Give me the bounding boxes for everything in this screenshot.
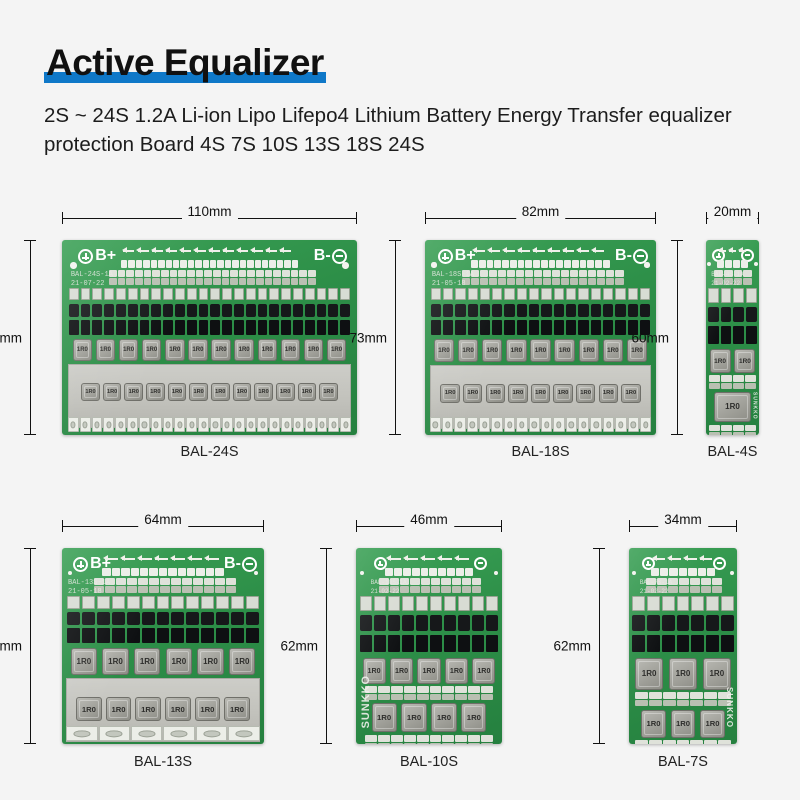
pad: [543, 270, 551, 277]
mosfet: [416, 635, 428, 653]
smd-capacitor: [127, 596, 140, 609]
inductor-1r0: 1R0: [229, 648, 256, 675]
dimension-width-bal-10s: 46mm: [356, 520, 502, 532]
black-inductor: [269, 304, 279, 317]
silk-arrow-row: [121, 247, 292, 254]
inductor-1r0-lower: 1R0: [233, 383, 252, 401]
pad: [215, 578, 225, 585]
dimension-line: [30, 548, 31, 744]
component-channel: [222, 288, 232, 337]
connector-pad: [385, 568, 393, 576]
pad-row: [635, 692, 730, 698]
arrow-icon: [151, 247, 163, 254]
mosfet: [517, 320, 527, 335]
smd-capacitor: [529, 288, 539, 301]
black-inductor: [554, 304, 564, 317]
mosfet: [82, 628, 95, 643]
pad: [204, 578, 214, 585]
inductor-1r0-lower: 1R0: [276, 383, 295, 401]
pad: [733, 383, 744, 389]
smd-capacitor: [67, 596, 80, 609]
dimension-width-bal-18s: 82mm: [425, 212, 656, 224]
component-channel: [566, 288, 576, 337]
screw-terminal: [553, 417, 564, 432]
mosfet: [360, 635, 372, 653]
pad: [182, 586, 192, 593]
pad: [404, 686, 416, 692]
component-channel: [246, 596, 259, 645]
mosfet: [104, 320, 114, 335]
black-inductor: [112, 612, 125, 625]
screw-terminal: [454, 417, 465, 432]
mosfet: [67, 628, 80, 643]
black-inductor: [210, 304, 220, 317]
silkscreen-date-text: 21-02-22: [711, 281, 740, 288]
connector-pad: [196, 568, 204, 576]
pad: [144, 278, 152, 285]
arrow-icon: [179, 247, 191, 254]
pad: [391, 694, 403, 700]
component-channel: [157, 596, 170, 645]
mounting-hole: [730, 571, 734, 575]
pad: [135, 270, 143, 277]
pad: [472, 578, 481, 585]
smd-pad-matrix: [94, 578, 235, 593]
pad: [721, 375, 732, 381]
dimension-line: [677, 240, 678, 435]
arrow-icon: [667, 555, 681, 562]
component-channel: [163, 288, 173, 337]
black-inductor: [127, 612, 140, 625]
inductor-1r0: 1R0: [211, 339, 230, 361]
screw-terminal: [222, 417, 233, 432]
black-inductor: [151, 304, 161, 317]
black-inductor: [733, 307, 744, 322]
screw-terminal: [590, 417, 601, 432]
pcb-bal-13s[interactable]: B+B-BAL-13S-1A21-05-181R01R01R01R01R01R0…: [62, 548, 264, 744]
title-block: Active Equalizer: [44, 44, 326, 81]
pad: [127, 586, 137, 593]
mosfet: [554, 320, 564, 335]
connector-pad: [394, 568, 402, 576]
black-inductor: [246, 304, 256, 317]
arrow-icon: [472, 247, 485, 254]
arrow-icon: [502, 247, 515, 254]
screw-terminal: [615, 417, 626, 432]
smd-capacitor: [416, 596, 428, 611]
inductor-1r0: 1R0: [234, 339, 253, 361]
mosfet: [112, 628, 125, 643]
black-inductor: [142, 612, 155, 625]
dimension-height-bal-13s: 64mm: [24, 548, 36, 744]
connector-pad: [166, 260, 172, 268]
screw-terminal: [578, 417, 589, 432]
black-inductor: [67, 612, 80, 625]
pad-row: [109, 270, 316, 277]
black-inductor: [171, 612, 184, 625]
arrow-icon: [487, 247, 500, 254]
black-inductor: [81, 304, 91, 317]
smd-capacitor: [246, 288, 256, 301]
mosfet: [246, 320, 256, 335]
screw-terminal: [127, 417, 138, 432]
pad: [126, 270, 134, 277]
black-inductor: [529, 304, 539, 317]
black-inductor: [458, 615, 470, 630]
arrow-icon: [517, 247, 530, 254]
black-inductor: [504, 304, 514, 317]
smd-capacitor: [615, 288, 625, 301]
mosfet: [269, 320, 279, 335]
black-inductor: [187, 304, 197, 317]
pad: [597, 278, 605, 285]
pad: [733, 425, 744, 432]
connector-pad: [121, 568, 129, 576]
mosfet: [81, 320, 91, 335]
mosfet: [566, 320, 576, 335]
mosfet: [97, 628, 110, 643]
connector-pad: [269, 260, 275, 268]
arrow-icon: [187, 555, 202, 562]
pad: [365, 743, 377, 744]
pad: [525, 270, 533, 277]
page-header: Active Equalizer 2S ~ 24S 1.2A Li-ion Li…: [0, 0, 800, 159]
dimension-endcap-top: [24, 548, 36, 549]
smd-capacitor: [603, 288, 613, 301]
pad: [222, 270, 230, 277]
connector-pad: [247, 260, 253, 268]
pad: [635, 740, 648, 744]
mosfet: [472, 635, 484, 653]
pad: [579, 278, 587, 285]
smd-capacitor: [632, 596, 645, 611]
inductor-1r0: 1R0: [304, 339, 323, 361]
connector-pad: [580, 260, 587, 268]
smd-capacitor: [81, 288, 91, 301]
inductor-1r0-lower: 1R0: [168, 383, 187, 401]
smd-capacitor: [175, 288, 185, 301]
pad: [455, 686, 467, 692]
negative-terminal-label: B-: [224, 556, 241, 572]
pad: [160, 578, 170, 585]
black-inductor: [305, 304, 315, 317]
pad: [291, 270, 299, 277]
component-channel: [733, 288, 744, 347]
screw-terminal: [257, 417, 268, 432]
black-inductor: [430, 615, 442, 630]
pad: [635, 692, 648, 698]
pad: [677, 692, 690, 698]
inductor-1r0: 1R0: [390, 658, 413, 684]
negative-terminal-label: B-: [314, 248, 331, 264]
screw-terminal-strip: [430, 417, 652, 432]
connector-pad: [741, 260, 748, 268]
inductor-1r0-lower: 1R0: [461, 703, 486, 731]
pad: [116, 586, 126, 593]
pcb-bal-7s[interactable]: BAL-7S-1A21-02-221R01R01R01R01R01R0SUNKK…: [629, 548, 737, 744]
component-channel: [721, 596, 734, 655]
mounting-hole: [342, 262, 348, 268]
mosfet: [721, 635, 734, 653]
product-board-gallery: 110mm74mmB+B-BAL-24S-1A21-07-221R01R01R0…: [0, 192, 800, 800]
connector-pad: [262, 260, 268, 268]
dimension-width-label: 64mm: [138, 512, 188, 527]
pad: [481, 743, 493, 744]
component-channel: [293, 288, 303, 337]
pad: [472, 586, 481, 593]
pcb-bal-24s[interactable]: B+B-BAL-24S-1A21-07-221R01R01R01R01R01R0…: [62, 240, 357, 435]
component-channel: [186, 596, 199, 645]
pad: [239, 278, 247, 285]
component-channel: [142, 596, 155, 645]
pad: [391, 686, 403, 692]
smd-capacitor: [430, 596, 442, 611]
pad: [718, 740, 731, 744]
negative-terminal-icon: [474, 557, 487, 570]
dimension-endcap-top: [320, 548, 332, 549]
silkscreen-model-text: BAL-4S-1A: [711, 272, 743, 279]
component-channel: [82, 596, 95, 645]
pad: [431, 578, 440, 585]
screw-terminal: [234, 417, 245, 432]
mosfet: [708, 326, 719, 344]
inductor-1r0-lower: 1R0: [641, 710, 666, 738]
brand-silkscreen: SUNKKO: [360, 675, 372, 728]
connector-pad: [471, 260, 478, 268]
pad: [455, 735, 467, 742]
black-inductor: [677, 615, 690, 630]
pad: [144, 270, 152, 277]
screw-terminal-strip: [68, 417, 351, 432]
connector-pad: [465, 568, 473, 576]
connector-pad: [717, 260, 724, 268]
mounting-hole: [254, 571, 258, 575]
pad: [498, 270, 506, 277]
pad: [441, 586, 450, 593]
pad-row: [365, 686, 493, 692]
connector-pad: [494, 260, 501, 268]
mosfet: [171, 628, 184, 643]
connector-pad: [412, 568, 420, 576]
plus-vertical: [444, 253, 446, 260]
brand-silkscreen: SUNKKO: [725, 687, 734, 728]
connector-pad: [603, 260, 610, 268]
black-inductor: [388, 615, 400, 630]
pad: [579, 270, 587, 277]
dimension-height-label: 60mm: [631, 330, 669, 345]
mosfet: [305, 320, 315, 335]
smd-pad-matrix-bottom: [709, 425, 756, 435]
plus-vertical: [80, 561, 82, 568]
pad: [171, 586, 181, 593]
arrow-icon: [728, 247, 736, 254]
connector-pad: [240, 260, 246, 268]
component-channel: [647, 596, 660, 655]
smd-capacitor: [628, 288, 638, 301]
connector-pad: [143, 260, 149, 268]
connector-pad: [102, 568, 110, 576]
black-inductor: [443, 304, 453, 317]
pad: [226, 586, 236, 593]
component-channel: [104, 288, 114, 337]
smd-capacitor: [328, 288, 338, 301]
pad: [721, 432, 732, 435]
component-channel: [472, 596, 484, 655]
black-inductor: [615, 304, 625, 317]
mosfet: [468, 320, 478, 335]
inductor-1r0-lower: 1R0: [531, 384, 550, 403]
mosfet: [281, 320, 291, 335]
inductor-1r0-lower: 1R0: [486, 384, 505, 403]
connector-pad: [178, 568, 186, 576]
smd-capacitor: [517, 288, 527, 301]
connector-pad: [121, 260, 127, 268]
dimension-height-bal-7s: 62mm: [593, 548, 605, 744]
pad: [118, 278, 126, 285]
screw-terminal: [103, 417, 114, 432]
inductor-1r0-lower: 1R0: [599, 384, 618, 403]
screw-terminal: [196, 726, 227, 741]
mosfet: [662, 635, 675, 653]
screw-terminal: [68, 417, 79, 432]
mosfet: [480, 320, 490, 335]
connector-pad: [217, 260, 223, 268]
dimension-endcap-bottom: [671, 434, 683, 435]
inductor-1r0: 1R0: [258, 339, 277, 361]
arrow-icon: [204, 555, 219, 562]
component-channel: [541, 288, 551, 337]
pad: [743, 270, 752, 277]
arrow-icon: [437, 555, 452, 562]
silkscreen-model-text: BAL-10S-1A: [371, 580, 407, 587]
smd-capacitor: [69, 288, 79, 301]
connector-pad: [277, 260, 283, 268]
pad: [308, 278, 316, 285]
pad: [230, 278, 238, 285]
inductor-1r0-lower: 1R0: [401, 703, 426, 731]
pad: [635, 700, 648, 706]
black-inductor: [186, 612, 199, 625]
positive-terminal-icon: [438, 249, 453, 264]
connector-pad: [173, 260, 179, 268]
component-channel: [305, 288, 315, 337]
smd-capacitor: [317, 288, 327, 301]
mosfet: [163, 320, 173, 335]
pad: [417, 743, 429, 744]
smd-capacitor: [443, 288, 453, 301]
pad: [410, 586, 419, 593]
dimension-width-bal-13s: 64mm: [62, 520, 264, 532]
connector-pad: [556, 260, 563, 268]
component-channel: [127, 596, 140, 645]
component-channel-row: [359, 596, 499, 655]
pad: [247, 278, 255, 285]
pad: [570, 270, 578, 277]
component-channel: [67, 596, 80, 645]
component-channel: [444, 596, 456, 655]
component-channel: [603, 288, 613, 337]
connector-pad: [210, 260, 216, 268]
smd-capacitor: [163, 288, 173, 301]
pad: [215, 586, 225, 593]
smd-capacitor: [566, 288, 576, 301]
pad: [733, 375, 744, 381]
mosfet: [591, 320, 601, 335]
pad: [452, 586, 461, 593]
black-inductor: [222, 304, 232, 317]
smd-capacitor: [388, 596, 400, 611]
inductor-1r0-lower: 1R0: [319, 383, 338, 401]
smd-capacitor: [541, 288, 551, 301]
pad: [222, 278, 230, 285]
pad: [282, 270, 290, 277]
pad: [170, 270, 178, 277]
pad: [417, 686, 429, 692]
mosfet: [746, 326, 757, 344]
component-channel: [360, 596, 372, 655]
component-channel: [662, 596, 675, 655]
inductor-1r0: 1R0: [472, 658, 495, 684]
pcb-bal-18s[interactable]: B+B-BAL-18S-1A21-05-181R01R01R01R01R01R0…: [425, 240, 656, 435]
black-inductor: [92, 304, 102, 317]
arrow-icon: [279, 247, 291, 254]
dimension-endcap-left: [62, 520, 63, 532]
pad: [468, 686, 480, 692]
pad: [570, 278, 578, 285]
pad: [516, 278, 524, 285]
dimension-endcap-right: [501, 520, 502, 532]
black-inductor: [97, 612, 110, 625]
pad: [588, 278, 596, 285]
smd-capacitor: [591, 288, 601, 301]
smd-capacitor: [231, 596, 244, 609]
connector-header-strip: [121, 260, 298, 268]
component-channel: [81, 288, 91, 337]
smd-capacitor: [640, 288, 650, 301]
arrow-icon: [250, 247, 262, 254]
mosfet: [529, 320, 539, 335]
pad: [118, 270, 126, 277]
pad: [649, 700, 662, 706]
pad: [182, 578, 192, 585]
black-inductor: [234, 304, 244, 317]
mosfet: [615, 320, 625, 335]
smd-capacitor: [472, 596, 484, 611]
black-inductor: [721, 307, 732, 322]
inductor-1r0: 1R0: [327, 339, 346, 361]
pad: [452, 578, 461, 585]
smd-capacitor: [677, 596, 690, 611]
inductor-1r0-lower: 1R0: [135, 697, 160, 721]
pad: [745, 425, 756, 432]
pcb-bal-4s[interactable]: BAL-4S-1A21-02-221R01R01R0SUNKKO: [706, 240, 759, 435]
component-channel: [554, 288, 564, 337]
pad-row: [462, 270, 624, 277]
pad: [743, 278, 752, 285]
inductor-1r0: 1R0: [458, 339, 478, 362]
smd-capacitor: [662, 596, 675, 611]
smd-capacitor: [199, 288, 209, 301]
pcb-bal-10s[interactable]: BAL-10S-1A21-02-221R01R01R01R01R01R01R01…: [356, 548, 502, 744]
dimension-endcap-left: [62, 212, 63, 224]
silkscreen-date-text: 21-02-22: [371, 589, 400, 596]
pad: [442, 743, 454, 744]
pad: [441, 578, 450, 585]
connector-pad: [587, 260, 594, 268]
silk-arrow-row: [385, 555, 470, 562]
connector-pad: [707, 568, 715, 576]
screw-terminal: [328, 417, 339, 432]
